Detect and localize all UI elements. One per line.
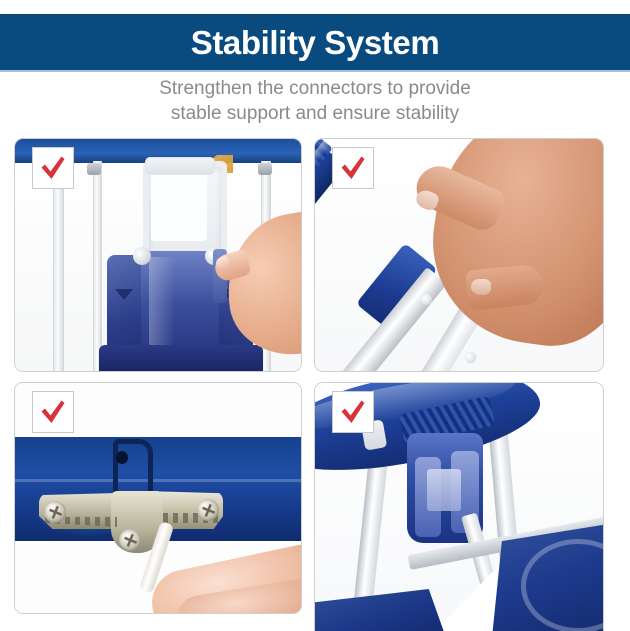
fingernail [471, 279, 491, 295]
red-check-icon [39, 155, 67, 181]
red-check-icon [339, 155, 367, 181]
header-underline [0, 70, 630, 72]
clear-connector-window [151, 173, 207, 241]
frame-seam [15, 479, 301, 482]
panel-bottom-right[interactable] [314, 382, 604, 631]
header-bar: Stability System [0, 14, 630, 70]
rail-clip [258, 163, 272, 175]
subtitle: Strengthen the connectors to provide sta… [0, 76, 630, 126]
check-badge [32, 147, 74, 189]
check-badge [332, 147, 374, 189]
page-title: Stability System [191, 26, 440, 59]
vertical-rail [93, 161, 102, 371]
rivet-pin [465, 352, 476, 363]
subtitle-line-1: Strengthen the connectors to provide [0, 76, 630, 101]
check-badge [32, 391, 74, 433]
panel-top-left[interactable] [14, 138, 302, 372]
pivot-hole [116, 451, 128, 464]
panel-grid [14, 138, 616, 630]
red-check-icon [39, 399, 67, 425]
connector-label [427, 469, 461, 511]
roller-pin [133, 247, 151, 265]
rail-clip [87, 163, 101, 175]
panel-bottom-left[interactable] [14, 382, 302, 614]
connector-cap [145, 157, 215, 175]
screw [44, 501, 66, 523]
base-block [99, 345, 263, 371]
vertical-rail [53, 161, 64, 371]
check-badge [332, 391, 374, 433]
bracket-notch [115, 289, 133, 300]
subtitle-line-2: stable support and ensure stability [0, 101, 630, 126]
screw [197, 499, 219, 521]
screw [119, 529, 141, 551]
red-check-icon [339, 399, 367, 425]
panel-top-right[interactable] [314, 138, 604, 372]
rivet-pin [421, 294, 432, 305]
